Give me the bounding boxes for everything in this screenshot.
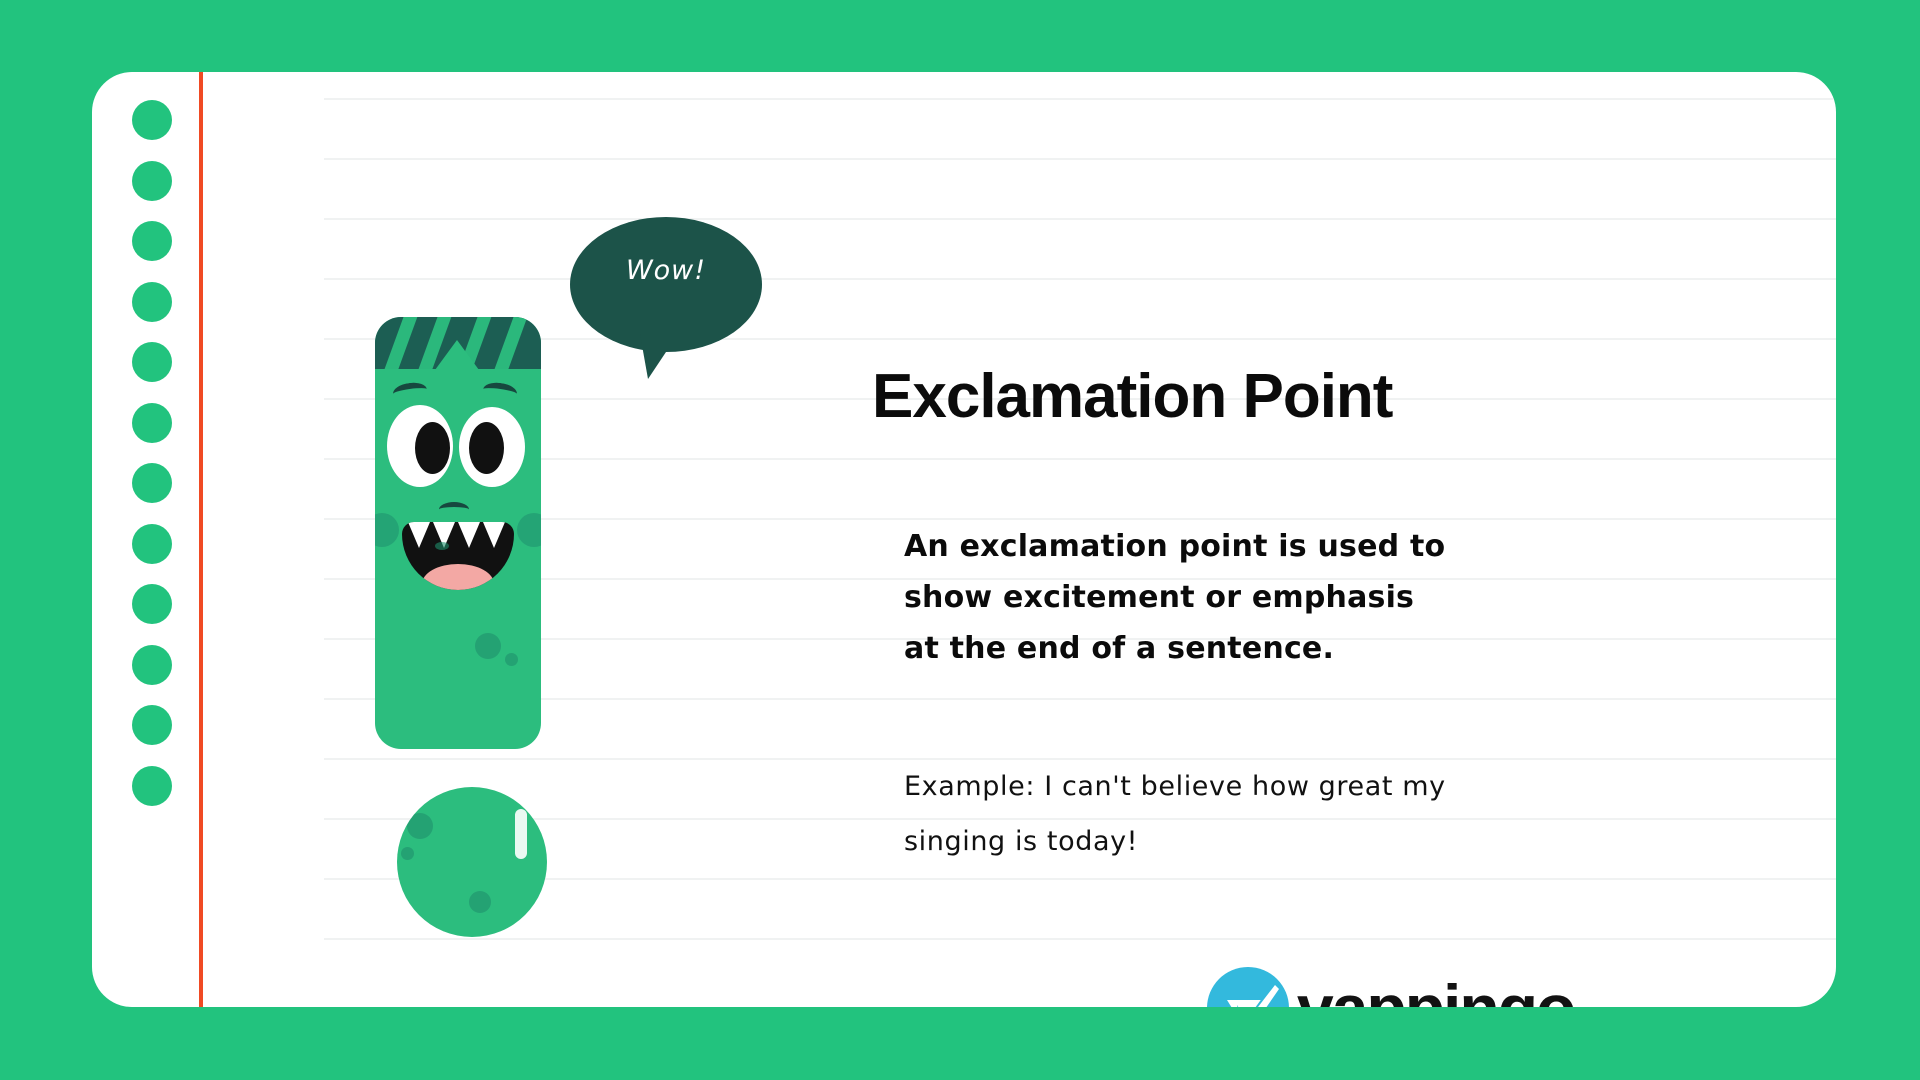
rule-line [324, 218, 1836, 220]
hole-punch [132, 463, 172, 503]
exclamation-dot [397, 787, 547, 937]
hole-punch [132, 161, 172, 201]
speech-bubble-text: Wow! [570, 255, 762, 286]
margin-line [199, 72, 203, 1007]
hole-punch [132, 645, 172, 685]
poster-background: Wow! Exclamation Point An exclamation po… [0, 0, 1920, 1080]
left-cheek [375, 513, 399, 547]
tongue [422, 564, 494, 590]
hole-punch [132, 221, 172, 261]
left-eyebrow-icon [392, 381, 428, 403]
nose-icon [439, 502, 469, 517]
hair-stripe-icon [489, 317, 530, 369]
rule-line [324, 98, 1836, 100]
body-spot [435, 542, 449, 550]
hole-punch [132, 403, 172, 443]
dot-spot [401, 847, 414, 860]
rule-line [324, 938, 1836, 940]
definition-line: An exclamation point is used to [904, 521, 1464, 572]
body-spot [505, 653, 518, 666]
checkmark-circle-icon [1207, 967, 1289, 1007]
tooth-icon [408, 522, 430, 548]
vappingo-logo[interactable]: vappingo [1207, 967, 1574, 1007]
mascot-mouth [402, 522, 514, 590]
page-title: Exclamation Point [872, 361, 1392, 432]
hole-punch [132, 584, 172, 624]
right-cheek [517, 513, 541, 547]
hair-stripe-icon [379, 317, 420, 369]
exclamation-point-mascot [375, 247, 595, 917]
tooth-icon [483, 522, 505, 548]
logo-wordmark: vappingo [1297, 975, 1574, 1007]
right-pupil [469, 422, 504, 474]
definition-line: show excitement or emphasis [904, 572, 1464, 623]
rule-line [324, 158, 1836, 160]
left-pupil [415, 422, 450, 474]
hair-notch-icon [435, 340, 479, 369]
definition-line: at the end of a sentence. [904, 623, 1464, 674]
hole-punch [132, 524, 172, 564]
example-line: Example: I can't believe how great my [904, 759, 1464, 814]
hole-punch [132, 342, 172, 382]
mascot-hair [375, 317, 541, 369]
speech-bubble-tail [640, 334, 678, 379]
hole-punch [132, 282, 172, 322]
hole-punch [132, 766, 172, 806]
dot-spot [407, 813, 433, 839]
hole-punch [132, 100, 172, 140]
mascot-body [375, 317, 541, 749]
tooth-icon [458, 522, 480, 548]
example-text: Example: I can't believe how great mysin… [904, 759, 1464, 869]
right-eyebrow-icon [482, 381, 518, 403]
dot-spot [469, 891, 491, 913]
definition-text: An exclamation point is used toshow exci… [904, 521, 1464, 674]
notebook-card: Wow! Exclamation Point An exclamation po… [92, 72, 1836, 1007]
body-spot [475, 633, 501, 659]
example-line: singing is today! [904, 814, 1464, 869]
hole-punch [132, 705, 172, 745]
dot-highlight [515, 809, 527, 859]
